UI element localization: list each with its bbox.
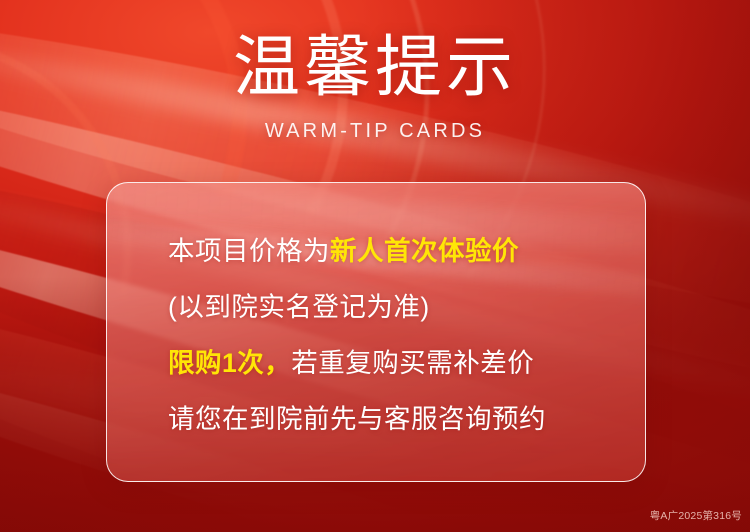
- ad-approval-number: 粤A广2025第316号: [650, 508, 742, 523]
- tip-line-1-highlight: 新人首次体验价: [330, 236, 519, 266]
- tip-line-3-highlight: 限购1次，: [168, 348, 291, 378]
- tip-card: 本项目价格为新人首次体验价 (以到院实名登记为准) 限购1次，若重复购买需补差价…: [106, 182, 646, 482]
- tip-line-3: 限购1次，若重复购买需补差价: [168, 335, 625, 391]
- page-subtitle: WARM-TIP CARDS: [0, 120, 750, 143]
- tip-text-block: 本项目价格为新人首次体验价 (以到院实名登记为准) 限购1次，若重复购买需补差价…: [168, 223, 625, 447]
- tip-line-1-plain: 本项目价格为: [168, 236, 330, 266]
- tip-line-1: 本项目价格为新人首次体验价: [168, 223, 625, 279]
- page-title: 温馨提示: [0, 34, 750, 102]
- tip-line-4-plain: 请您在到院前先与客服咨询预约: [168, 404, 546, 434]
- warm-tip-poster: 温馨提示 WARM-TIP CARDS 本项目价格为新人首次体验价 (以到院实名…: [0, 0, 750, 532]
- poster-header: 温馨提示 WARM-TIP CARDS: [0, 34, 750, 143]
- tip-line-2: (以到院实名登记为准): [168, 279, 625, 335]
- tip-line-2-plain: (以到院实名登记为准): [168, 292, 430, 322]
- tip-line-4: 请您在到院前先与客服咨询预约: [168, 391, 625, 447]
- tip-line-3-plain-after: 若重复购买需补差价: [291, 348, 534, 378]
